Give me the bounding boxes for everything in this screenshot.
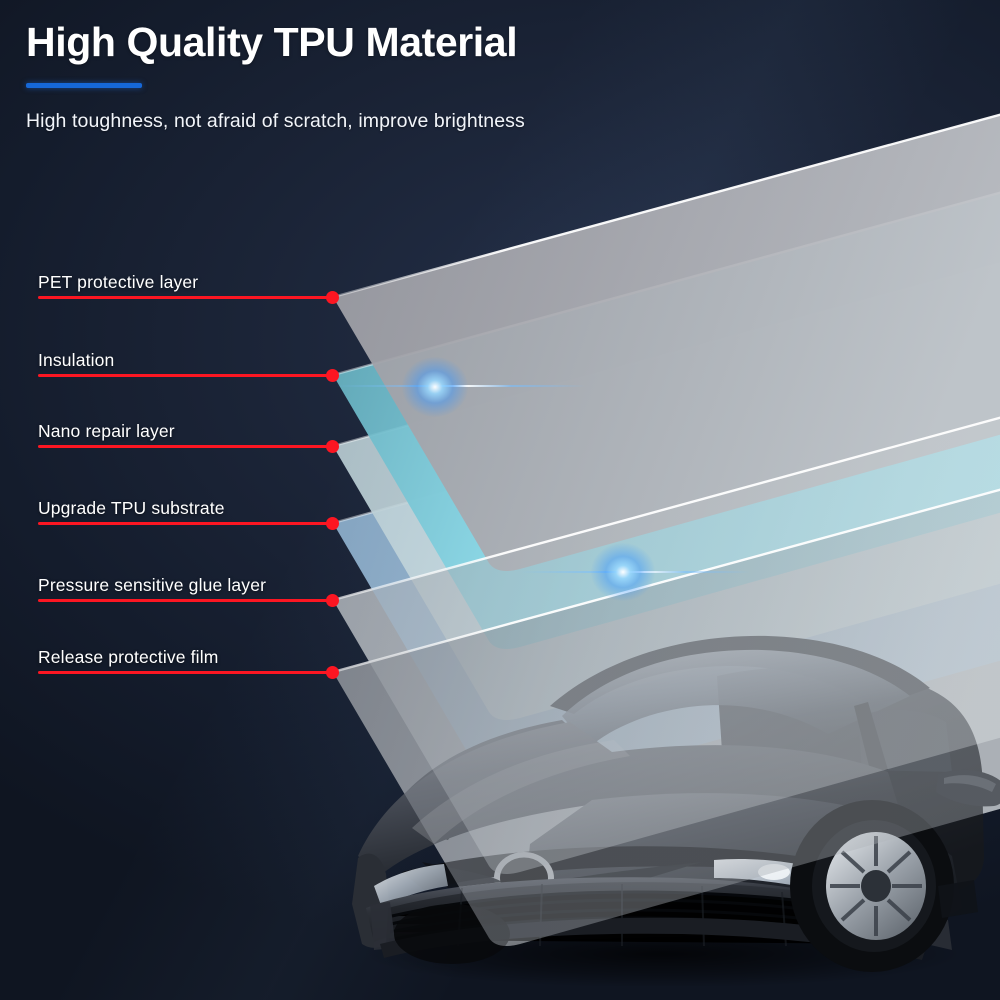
- callout-nano-repair-layer: Nano repair layer: [0, 411, 360, 455]
- callout-upgrade-tpu-substrate: Upgrade TPU substrate: [0, 488, 360, 532]
- callout-release-protective-film: Release protective film: [0, 637, 360, 681]
- callout-pressure-sensitive-glue-layer: Pressure sensitive glue layer: [0, 565, 360, 609]
- page-subtitle: High toughness, not afraid of scratch, i…: [26, 110, 726, 133]
- callout-dot: [326, 369, 339, 382]
- callout-leader-line: [38, 522, 334, 525]
- callout-label: Insulation: [38, 350, 114, 371]
- callout-dot: [326, 440, 339, 453]
- callout-leader-line: [38, 445, 334, 448]
- callout-dot: [326, 517, 339, 530]
- page-title: High Quality TPU Material: [26, 22, 726, 63]
- header-block: High Quality TPU Material High toughness…: [26, 22, 726, 133]
- callout-label: PET protective layer: [38, 272, 198, 293]
- title-accent-bar: [26, 83, 142, 88]
- callout-dot: [326, 594, 339, 607]
- callout-insulation: Insulation: [0, 340, 360, 384]
- callout-label: Pressure sensitive glue layer: [38, 575, 266, 596]
- callout-dot: [326, 666, 339, 679]
- callout-leader-line: [38, 374, 334, 377]
- callout-label: Release protective film: [38, 647, 218, 668]
- callout-leader-line: [38, 296, 334, 299]
- callout-leader-line: [38, 671, 334, 674]
- callout-leader-line: [38, 599, 334, 602]
- callout-label: Nano repair layer: [38, 421, 175, 442]
- infographic-stage: High Quality TPU Material High toughness…: [0, 0, 1000, 1000]
- callout-pet-protective-layer: PET protective layer: [0, 262, 360, 306]
- callout-dot: [326, 291, 339, 304]
- callout-label: Upgrade TPU substrate: [38, 498, 225, 519]
